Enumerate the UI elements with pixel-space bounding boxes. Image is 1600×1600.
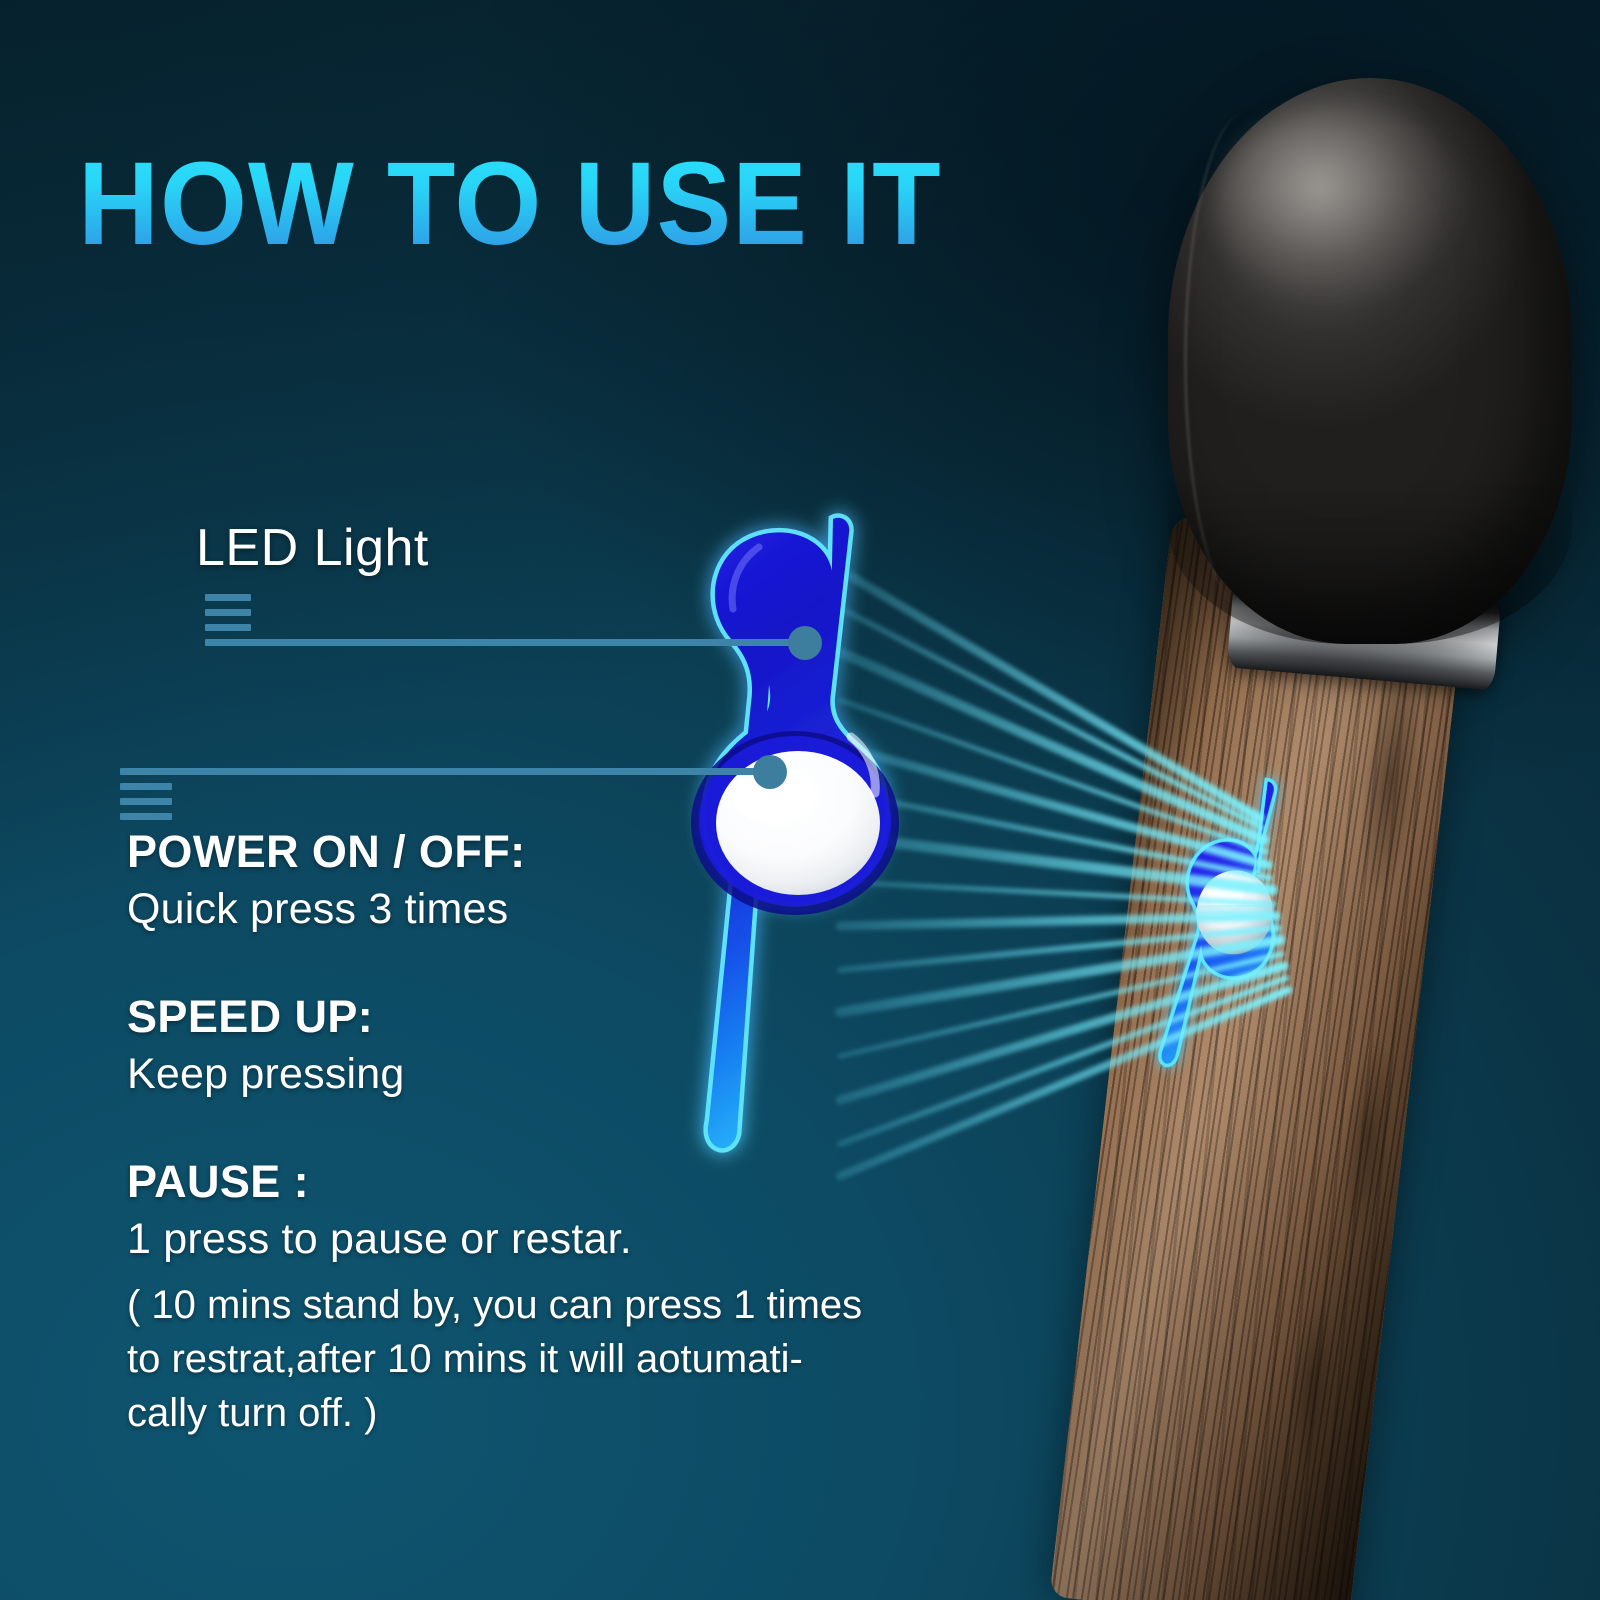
instruction-detail: Quick press 3 times (127, 885, 525, 934)
leader-dash (205, 624, 251, 631)
note-line: cally turn off. ) (127, 1386, 957, 1440)
note-line: to restrat,after 10 mins it will aotumat… (127, 1332, 957, 1386)
leader-dash (205, 594, 251, 601)
leader-dash (120, 798, 172, 805)
leader-endpoint-dot (788, 626, 822, 660)
leader-mainline (205, 639, 805, 646)
leader-endpoint-dot (753, 755, 787, 789)
instruction-speed: SPEED UP: Keep pressing (127, 991, 405, 1099)
silicone-head (1168, 78, 1572, 644)
leader-dash (120, 813, 172, 820)
leader-line-led (205, 594, 805, 646)
leader-dash (205, 609, 251, 616)
note-line: ( 10 mins stand by, you can press 1 time… (127, 1278, 957, 1332)
led-light-label: LED Light (196, 518, 429, 578)
instruction-heading: POWER ON / OFF: (127, 826, 525, 878)
instruction-note: ( 10 mins stand by, you can press 1 time… (127, 1278, 957, 1440)
instruction-detail: 1 press to pause or restar. (127, 1215, 957, 1264)
instruction-pause: PAUSE : 1 press to pause or restar. ( 10… (127, 1156, 957, 1440)
infographic-canvas: HOW TO USE IT LED Light POWER ON / OFF: … (0, 0, 1600, 1600)
leader-dash (120, 783, 172, 790)
leader-line-button (120, 768, 770, 828)
product-image (1060, 0, 1600, 1600)
instruction-heading: SPEED UP: (127, 991, 405, 1043)
instruction-detail: Keep pressing (127, 1050, 405, 1099)
instruction-heading: PAUSE : (127, 1156, 957, 1208)
leader-dash-group (120, 783, 770, 820)
leader-mainline (120, 768, 770, 775)
instruction-power: POWER ON / OFF: Quick press 3 times (127, 826, 525, 934)
page-title: HOW TO USE IT (78, 145, 942, 263)
